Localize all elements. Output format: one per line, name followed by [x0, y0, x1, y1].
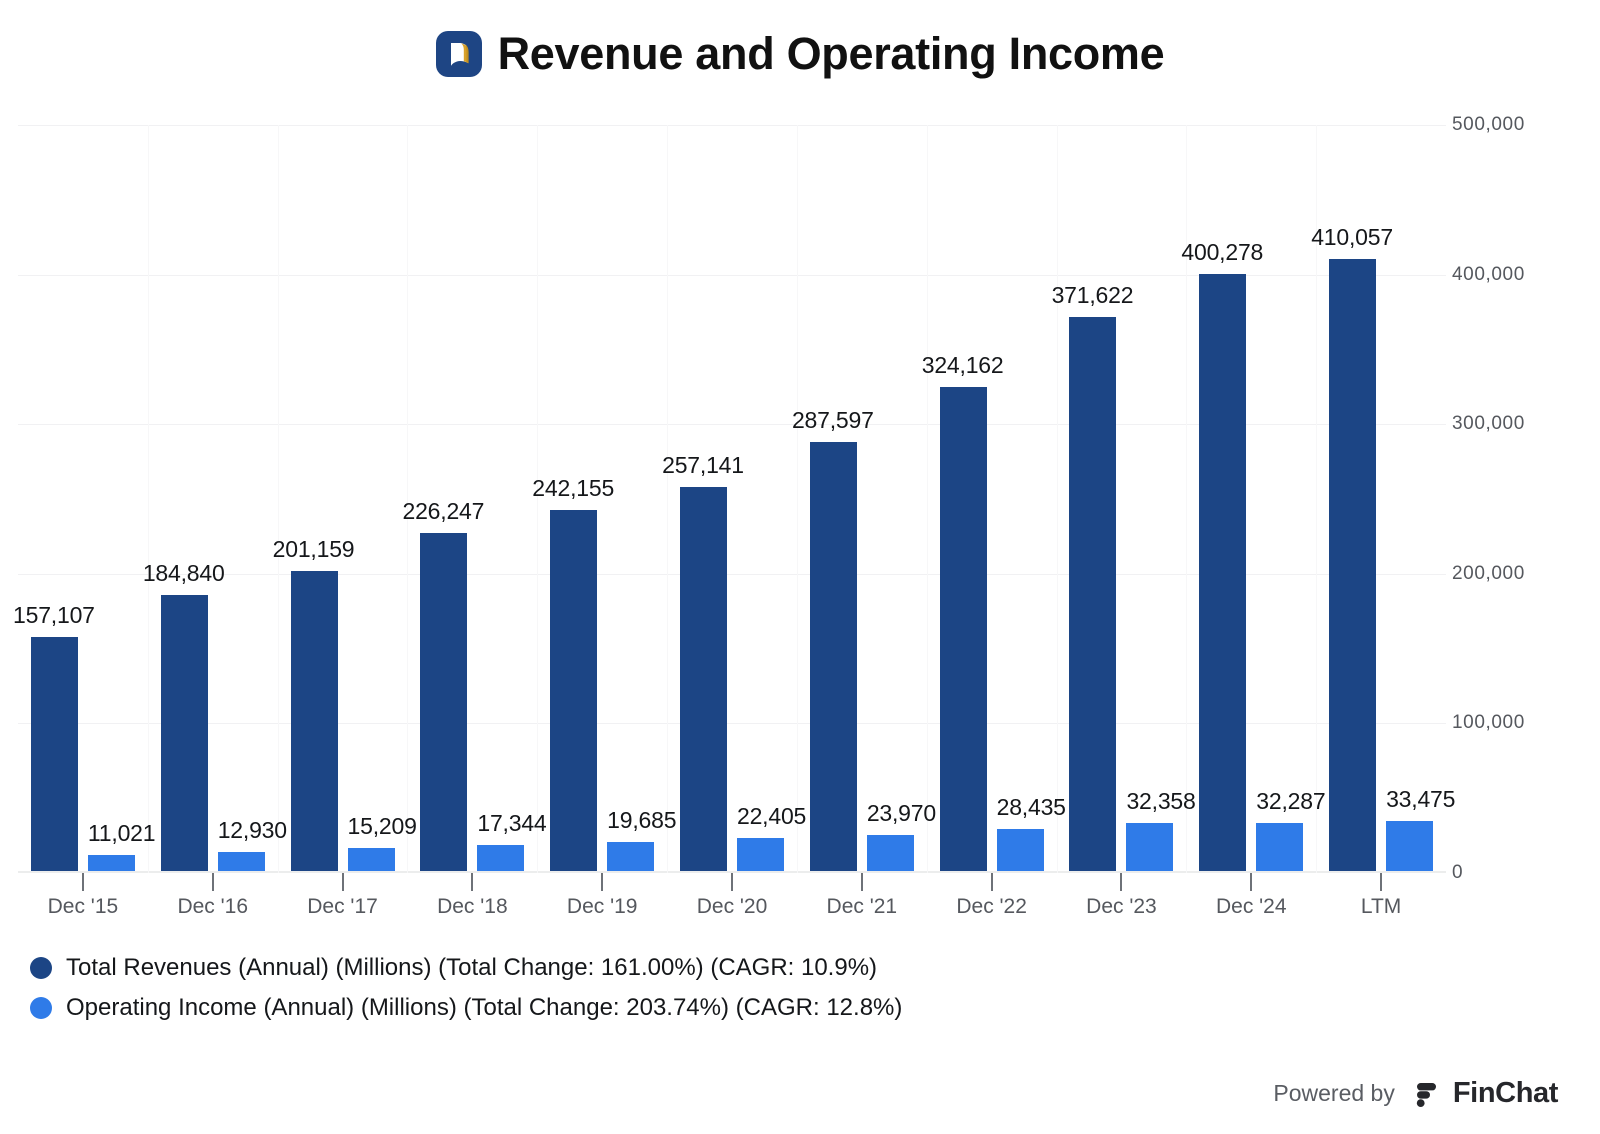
- bar-rev[interactable]: [291, 571, 338, 871]
- x-axis-tick: [82, 873, 84, 891]
- bar-value-label: 184,840: [143, 560, 225, 587]
- bar-group: 184,84012,930: [161, 125, 265, 873]
- bar-value-label: 287,597: [792, 407, 874, 434]
- finchat-f-mark-icon: [1409, 1079, 1439, 1109]
- legend-label-operating-income: Operating Income (Annual) (Millions) (To…: [66, 994, 902, 1022]
- bar-value-label: 226,247: [402, 498, 484, 525]
- bar-value-label: 22,405: [737, 803, 806, 830]
- bar-groups: 157,10711,021184,84012,930201,15915,2092…: [18, 125, 1446, 873]
- bar-rev[interactable]: [940, 387, 987, 871]
- finchat-brand-name: FinChat: [1453, 1077, 1558, 1110]
- bar-group: 400,27832,287: [1199, 125, 1303, 873]
- bar-rev[interactable]: [31, 637, 78, 871]
- x-axis-tick-label: Dec '16: [177, 895, 248, 919]
- x-axis: Dec '15Dec '16Dec '17Dec '18Dec '19Dec '…: [18, 873, 1446, 929]
- legend-swatch-icon: [30, 957, 52, 979]
- bar-value-label: 410,057: [1311, 224, 1393, 251]
- legend-item-revenue[interactable]: Total Revenues (Annual) (Millions) (Tota…: [30, 948, 1230, 988]
- x-axis-tick: [1380, 873, 1382, 891]
- legend-item-operating-income[interactable]: Operating Income (Annual) (Millions) (To…: [30, 988, 1230, 1028]
- bar-opi[interactable]: [477, 845, 524, 871]
- powered-by-label: Powered by: [1273, 1080, 1394, 1107]
- x-axis-tick-label: LTM: [1361, 895, 1401, 919]
- bar-group: 324,16228,435: [940, 125, 1044, 873]
- bar-value-label: 23,970: [867, 800, 936, 827]
- chart-legend: Total Revenues (Annual) (Millions) (Tota…: [30, 948, 1230, 1028]
- bar-value-label: 32,358: [1126, 788, 1195, 815]
- x-axis-tick-label: Dec '18: [437, 895, 508, 919]
- bar-value-label: 257,141: [662, 452, 744, 479]
- bar-group: 410,05733,475: [1329, 125, 1433, 873]
- bar-rev[interactable]: [1329, 259, 1376, 871]
- x-axis-tick: [861, 873, 863, 891]
- x-axis-tick-label: Dec '20: [697, 895, 768, 919]
- bar-value-label: 17,344: [477, 810, 546, 837]
- x-axis-tick-label: Dec '15: [48, 895, 119, 919]
- bar-rev[interactable]: [161, 595, 208, 871]
- legend-label-revenue: Total Revenues (Annual) (Millions) (Tota…: [66, 954, 877, 982]
- x-axis-tick-label: Dec '21: [827, 895, 898, 919]
- bar-rev[interactable]: [1069, 317, 1116, 871]
- bar-opi[interactable]: [1126, 823, 1173, 871]
- x-axis-tick: [991, 873, 993, 891]
- finchat-book-logo-icon: [436, 31, 482, 77]
- bar-group: 287,59723,970: [810, 125, 914, 873]
- bar-rev[interactable]: [550, 510, 597, 871]
- bar-opi[interactable]: [1386, 821, 1433, 871]
- bar-value-label: 12,930: [218, 817, 287, 844]
- bar-group: 226,24717,344: [420, 125, 524, 873]
- bar-opi[interactable]: [607, 842, 654, 871]
- bar-opi[interactable]: [348, 848, 395, 871]
- bar-value-label: 28,435: [997, 794, 1066, 821]
- x-axis-tick: [342, 873, 344, 891]
- page-title: Revenue and Operating Income: [498, 28, 1165, 80]
- x-axis-tick: [601, 873, 603, 891]
- bar-value-label: 324,162: [922, 352, 1004, 379]
- bar-opi[interactable]: [88, 855, 135, 871]
- bar-opi[interactable]: [997, 829, 1044, 871]
- bar-rev[interactable]: [680, 487, 727, 871]
- x-axis-tick: [212, 873, 214, 891]
- chart-header: Revenue and Operating Income: [0, 28, 1600, 80]
- bar-group: 157,10711,021: [31, 125, 135, 873]
- x-axis-tick: [471, 873, 473, 891]
- bar-value-label: 32,287: [1256, 788, 1325, 815]
- bar-value-label: 11,021: [88, 820, 155, 847]
- y-axis-tick-label: 400,000: [1452, 264, 1525, 286]
- bar-value-label: 33,475: [1386, 786, 1455, 813]
- bar-opi[interactable]: [867, 835, 914, 871]
- bar-rev[interactable]: [420, 533, 467, 871]
- bar-value-label: 400,278: [1181, 239, 1263, 266]
- x-axis-tick-label: Dec '22: [956, 895, 1027, 919]
- bar-value-label: 201,159: [273, 536, 355, 563]
- y-axis-tick-label: 0: [1452, 862, 1463, 884]
- x-axis-tick: [1120, 873, 1122, 891]
- bar-rev[interactable]: [810, 442, 857, 871]
- bar-value-label: 242,155: [532, 475, 614, 502]
- bar-value-label: 371,622: [1052, 282, 1134, 309]
- bar-group: 242,15519,685: [550, 125, 654, 873]
- bar-opi[interactable]: [218, 852, 265, 871]
- bar-value-label: 19,685: [607, 807, 676, 834]
- x-axis-tick: [731, 873, 733, 891]
- x-axis-tick-label: Dec '17: [307, 895, 378, 919]
- bar-value-label: 15,209: [348, 813, 417, 840]
- y-axis-tick-label: 500,000: [1452, 114, 1525, 136]
- powered-by-footer: Powered by FinChat: [1273, 1077, 1558, 1110]
- bar-group: 371,62232,358: [1069, 125, 1173, 873]
- bar-opi[interactable]: [1256, 823, 1303, 871]
- y-axis: 0100,000200,000300,000400,000500,000: [1452, 125, 1592, 873]
- y-axis-tick-label: 300,000: [1452, 413, 1525, 435]
- bar-group: 201,15915,209: [291, 125, 395, 873]
- legend-swatch-icon: [30, 997, 52, 1019]
- x-axis-tick: [1250, 873, 1252, 891]
- bar-value-label: 157,107: [13, 602, 95, 629]
- bar-group: 257,14122,405: [680, 125, 784, 873]
- bar-opi[interactable]: [737, 838, 784, 871]
- y-axis-tick-label: 100,000: [1452, 712, 1525, 734]
- x-axis-tick-label: Dec '23: [1086, 895, 1157, 919]
- x-axis-tick-label: Dec '24: [1216, 895, 1287, 919]
- bar-rev[interactable]: [1199, 274, 1246, 871]
- y-axis-tick-label: 200,000: [1452, 563, 1525, 585]
- x-axis-tick-label: Dec '19: [567, 895, 638, 919]
- chart-page: Revenue and Operating Income 0100,000200…: [0, 0, 1600, 1134]
